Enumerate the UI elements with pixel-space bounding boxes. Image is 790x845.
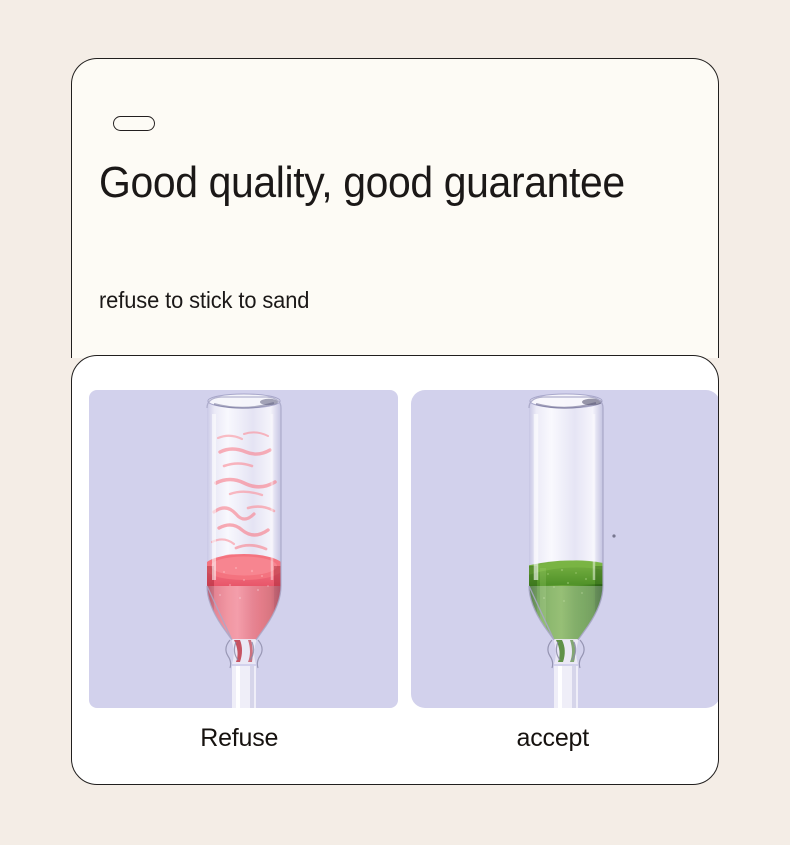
label-accept: accept (403, 716, 704, 760)
gallery-card: Refuse accept (71, 355, 719, 785)
label-refuse: Refuse (89, 716, 390, 760)
figure-refuse (89, 390, 398, 708)
page-subtitle: refuse to stick to sand (99, 289, 309, 312)
comparison-images-row (89, 390, 703, 708)
hourglass-tube-icon (174, 390, 314, 708)
product-detail-page: Good quality, good guarantee refuse to s… (0, 0, 790, 845)
photo-accept (411, 390, 719, 708)
pill-grille-icon (113, 116, 155, 131)
hourglass-tube-icon (496, 390, 636, 708)
page-title: Good quality, good guarantee (99, 161, 657, 205)
comparison-labels-row: Refuse accept (89, 716, 703, 760)
photo-refuse (89, 390, 398, 708)
figure-accept (411, 390, 719, 708)
header-card: Good quality, good guarantee refuse to s… (71, 58, 719, 358)
